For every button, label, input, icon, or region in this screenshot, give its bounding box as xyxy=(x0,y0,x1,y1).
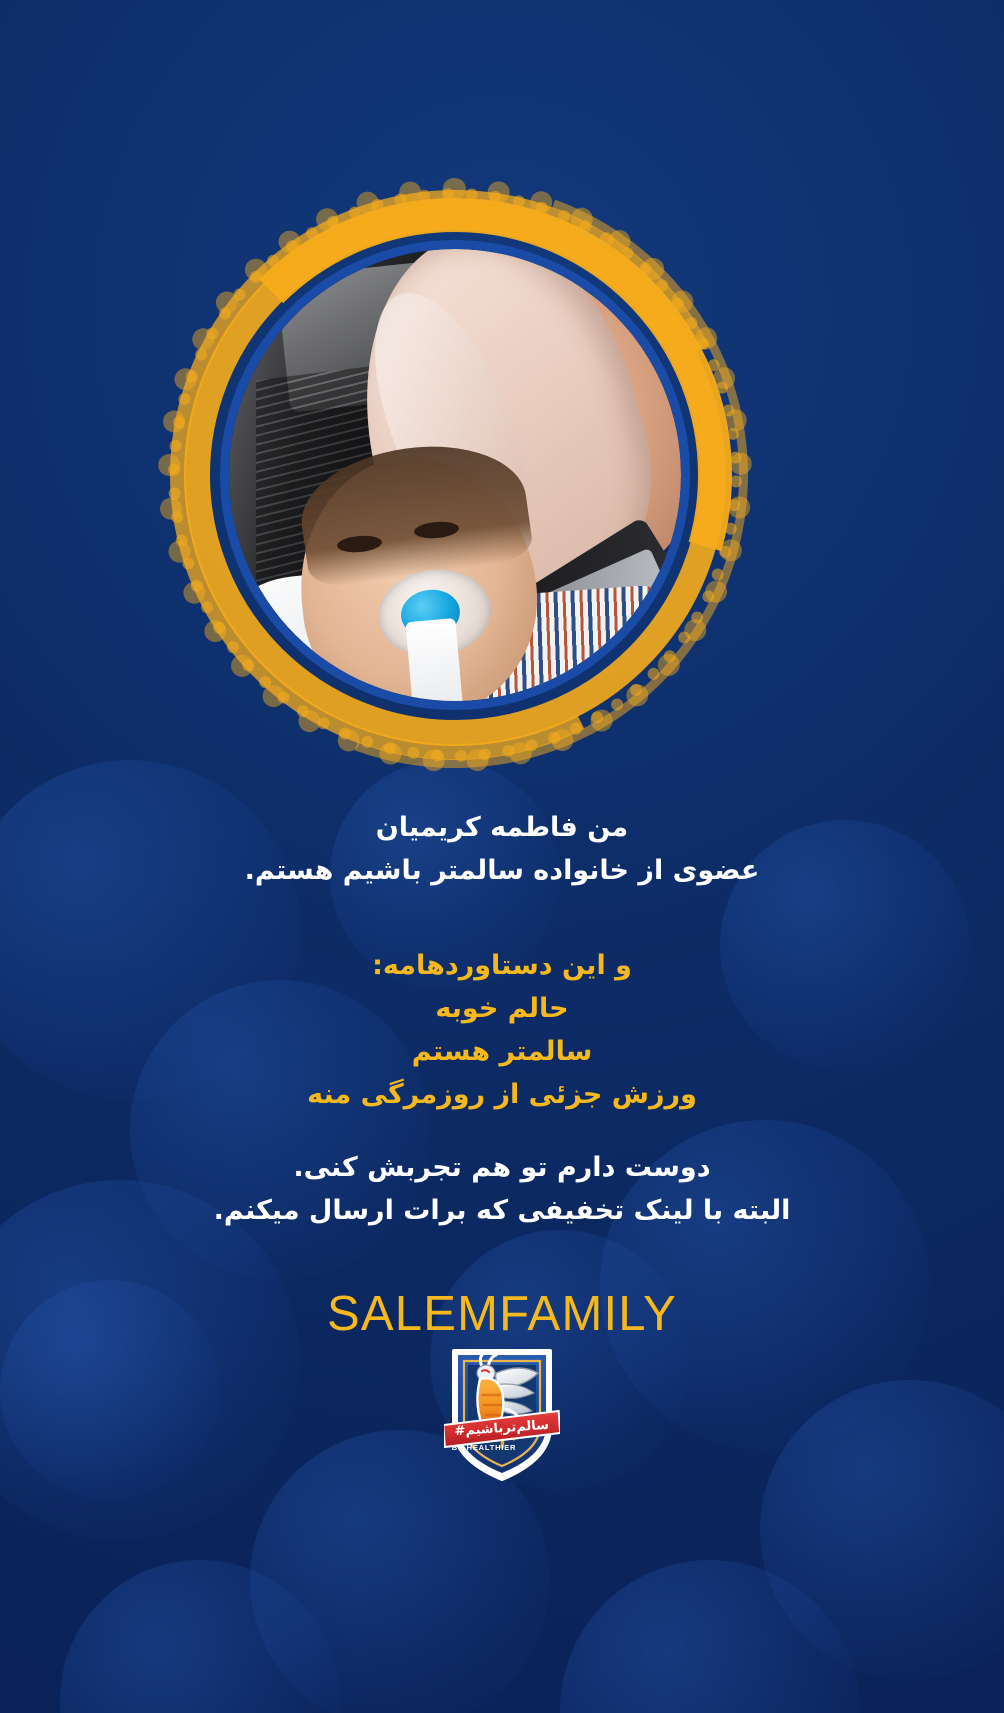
logo-banner-en-text: BE HEALTHIER xyxy=(452,1443,516,1452)
blue-ring-border xyxy=(220,240,690,710)
intro-line-2: عضوی از خانواده سالمتر باشیم هستم. xyxy=(0,849,1004,892)
achievement-item-1: حالم خوبه xyxy=(0,987,1004,1030)
salemfamily-logo: #سالم‌تر‌باشیم BE HEALTHIER xyxy=(444,1343,560,1483)
achievements-block: و این دستاوردهامه: حالم خوبه سالمتر هستم… xyxy=(0,944,1004,1116)
invite-line-1: دوست دارم تو هم تجربش کنی. xyxy=(0,1146,1004,1189)
member-photo xyxy=(229,249,681,701)
invitation-block: دوست دارم تو هم تجربش کنی. البته با لینک… xyxy=(0,1146,1004,1232)
intro-line-1: من فاطمه کریمیان xyxy=(0,806,1004,849)
achievement-item-3: ورزش جزئی از روزمرگی منه xyxy=(0,1073,1004,1116)
achievements-heading: و این دستاوردهامه: xyxy=(0,944,1004,987)
achievement-item-2: سالمتر هستم xyxy=(0,1030,1004,1073)
intro-text-block: من فاطمه کریمیان عضوی از خانواده سالمتر … xyxy=(0,806,1004,892)
invite-line-2: البته با لینک تخفیفی که برات ارسال میکنم… xyxy=(0,1189,1004,1232)
shield-hornet-logo-icon: #سالم‌تر‌باشیم BE HEALTHIER xyxy=(444,1343,560,1483)
profile-photo-medallion xyxy=(176,196,734,754)
brand-wordmark: SALEMFAMILY xyxy=(0,1286,1004,1342)
